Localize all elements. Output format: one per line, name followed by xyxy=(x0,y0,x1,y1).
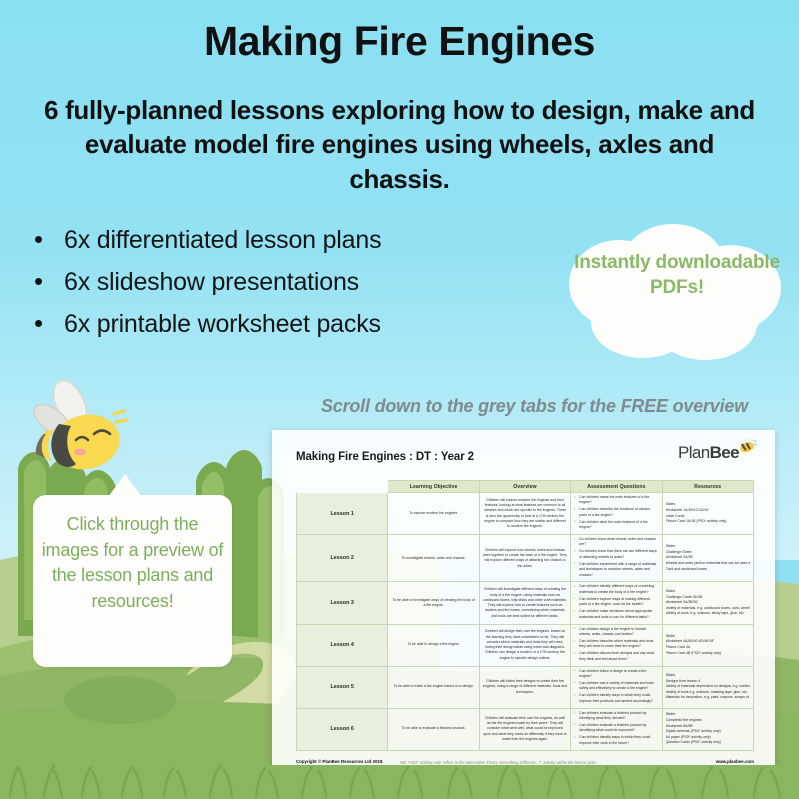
table-header-row: Learning Objective Overview Assessment Q… xyxy=(297,481,754,493)
lesson-cell: Lesson 1 xyxy=(297,493,388,535)
question-item: Can children label the main features of … xyxy=(574,520,658,531)
click-through-callout[interactable]: Click through the images for a preview o… xyxy=(33,495,232,667)
foreground-grass-overlay xyxy=(0,739,799,799)
question-item: Can children evaluate a finished product… xyxy=(574,723,658,734)
objective-cell: To be able to make a fire engine based o… xyxy=(388,666,479,708)
list-item: 6x printable worksheet packs xyxy=(28,312,548,337)
table-row: Lesson 4To be able to design a fire engi… xyxy=(297,624,754,666)
scroll-hint-caption: Scroll down to the grey tabs for the FRE… xyxy=(292,396,777,417)
resource-item: Picture Card 1A/1B (PSD* activity only) xyxy=(666,519,750,525)
question-item: Can children design a fire engine to inc… xyxy=(574,627,658,638)
lesson-cell: Lesson 4 xyxy=(297,624,388,666)
question-item: Can children discuss their designs and s… xyxy=(574,651,658,662)
callout-text: Click through the images for a preview o… xyxy=(41,512,224,614)
logo-bee-icon xyxy=(738,438,758,454)
questions-cell: Can children identify different ways of … xyxy=(571,582,662,624)
col-assessment-questions: Assessment Questions xyxy=(571,481,662,493)
overview-cell: Children will follow their designs to cr… xyxy=(479,666,570,708)
lesson-schedule-table: Learning Objective Overview Assessment Q… xyxy=(296,480,754,751)
question-item: Can children experiment with a range of … xyxy=(574,562,658,578)
poster-canvas: Making Fire Engines 6 fully-planned less… xyxy=(0,0,799,799)
resource-item: Card and cardboard boxes xyxy=(666,567,750,573)
table-row: Lesson 2To investigate wheels, axles and… xyxy=(297,535,754,582)
questions-cell: Can children follow a design to create a… xyxy=(571,666,662,708)
resource-item: Variety of tools, e.g. scissors, sticky … xyxy=(666,611,750,617)
questions-cell: Can children design a fire engine to inc… xyxy=(571,624,662,666)
document-title: Making Fire Engines : DT : Year 2 xyxy=(296,451,474,463)
col-resources: Resources xyxy=(662,481,753,493)
objective-cell: To investigate wheels, axles and chassis… xyxy=(388,535,479,582)
overview-cell: Children will explore modern fire engine… xyxy=(479,493,570,535)
resources-cell: SlidesDesigns from lesson 4Variety of ma… xyxy=(662,666,753,708)
overview-cell: Children will investigate different ways… xyxy=(479,582,570,624)
question-item: Do children know what wheels, axles and … xyxy=(574,537,658,548)
page-subtitle: 6 fully-planned lessons exploring how to… xyxy=(38,93,761,196)
table-row: Lesson 5To be able to make a fire engine… xyxy=(297,666,754,708)
resources-cell: SlidesWorksheet 1A/1B/1C/1D/1ELabel Card… xyxy=(662,493,753,535)
question-item: Do children know that there are two diff… xyxy=(574,549,658,560)
overview-cell: Children will design their own fire engi… xyxy=(479,624,570,666)
logo-plan-text: Plan xyxy=(678,443,710,462)
question-item: Can children make decisions about approp… xyxy=(574,609,658,620)
callout-tail xyxy=(108,474,142,497)
resources-cell: SlidesChallenge Cards 3A/3BWorksheet 3A/… xyxy=(662,582,753,624)
resources-cell: SlidesChallenge SheetWorksheet 2A/2BWhee… xyxy=(662,535,753,582)
col-learning-objective: Learning Objective xyxy=(388,481,479,493)
lesson-overview-document-preview[interactable]: Making Fire Engines : DT : Year 2 PlanBe… xyxy=(272,430,775,792)
question-item: Can children identify different ways of … xyxy=(574,584,658,595)
lesson-cell: Lesson 5 xyxy=(297,666,388,708)
question-item: Can children describe the functions of v… xyxy=(574,507,658,518)
cloud-badge-text: Instantly downloadable PDFs! xyxy=(565,250,789,301)
col-blank xyxy=(297,481,388,493)
question-item: Can children describe which materials an… xyxy=(574,639,658,650)
bee-mascot-icon xyxy=(18,378,146,486)
question-item: Can children follow a design to create a… xyxy=(574,669,658,680)
resource-item: Picture Card 4B (PSD* activity only) xyxy=(666,651,750,657)
lesson-cell: Lesson 2 xyxy=(297,535,388,582)
questions-cell: Can children name the main features of a… xyxy=(571,493,662,535)
instant-download-cloud-badge: Instantly downloadable PDFs! xyxy=(565,222,789,370)
question-item: Can children identify ways in which they… xyxy=(574,693,658,704)
document-header: Making Fire Engines : DT : Year 2 PlanBe… xyxy=(296,447,761,477)
objective-cell: To be able to design a fire engine. xyxy=(388,624,479,666)
objective-cell: To explore modern fire engines. xyxy=(388,493,479,535)
question-item: Can children use a variety of materials … xyxy=(574,681,658,692)
question-item: Can children name the main features of a… xyxy=(574,495,658,506)
page-title: Making Fire Engines xyxy=(0,18,799,65)
feature-bullet-list: 6x differentiated lesson plans 6x slides… xyxy=(28,228,548,354)
resource-item: Wheels and axles (and/or materials that … xyxy=(666,561,750,567)
objective-cell: To be able to investigate ways of creati… xyxy=(388,582,479,624)
logo-bee-text: Bee xyxy=(710,443,739,462)
list-item: 6x slideshow presentations xyxy=(28,270,548,295)
overview-cell: Children will explore how wheels, axles … xyxy=(479,535,570,582)
table-body: Lesson 1To explore modern fire engines.C… xyxy=(297,493,754,751)
table-row: Lesson 3To be able to investigate ways o… xyxy=(297,582,754,624)
table-row: Lesson 1To explore modern fire engines.C… xyxy=(297,493,754,535)
question-item: Can children explore ways of making diff… xyxy=(574,597,658,608)
resources-cell: SlidesWorksheet 4A/4B/4C/4D/4E/4FPicture… xyxy=(662,624,753,666)
list-item: 6x differentiated lesson plans xyxy=(28,228,548,253)
question-item: Can children evaluate a finished product… xyxy=(574,711,658,722)
lesson-cell: Lesson 3 xyxy=(297,582,388,624)
resource-item: Materials for decoration, e.g. paint, cr… xyxy=(666,695,750,701)
col-overview: Overview xyxy=(479,481,570,493)
questions-cell: Do children know what wheels, axles and … xyxy=(571,535,662,582)
planbee-logo: PlanBee xyxy=(678,443,739,463)
